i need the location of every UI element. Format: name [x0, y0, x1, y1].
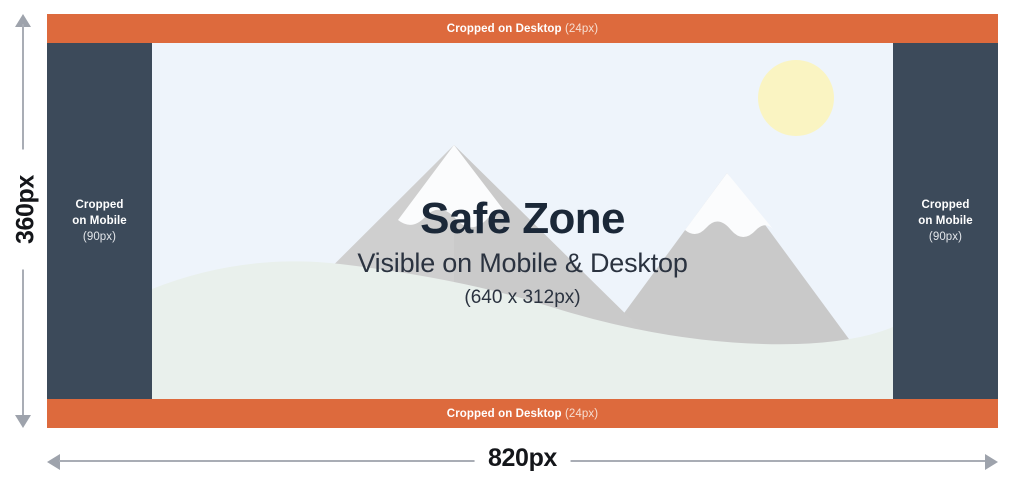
crop-band-bottom-label: Cropped on Desktop (24px): [447, 408, 598, 420]
arrow-left-icon: [47, 454, 60, 470]
cover-image-spec-diagram: 360px: [0, 0, 1024, 491]
mobile-crop-left-line1: Cropped: [72, 197, 127, 213]
crop-band-top-text: Cropped on Desktop: [447, 23, 562, 35]
mobile-crop-right-line1: Cropped: [918, 197, 973, 213]
mobile-crop-left-label: Cropped on Mobile (90px): [72, 197, 127, 245]
mobile-crop-panel-left: Cropped on Mobile (90px): [47, 43, 152, 399]
arrow-right-icon: [985, 454, 998, 470]
mobile-crop-left-size: (90px): [72, 229, 127, 245]
mobile-crop-right-label: Cropped on Mobile (90px): [918, 197, 973, 245]
crop-band-top-label: Cropped on Desktop (24px): [447, 23, 598, 35]
height-dimension-label: 360px: [7, 150, 46, 270]
width-dimension-arrow: 820px: [47, 443, 998, 479]
height-dimension-arrow: 360px: [12, 14, 34, 428]
mobile-crop-right-size: (90px): [918, 229, 973, 245]
cover-frame: Safe Zone Visible on Mobile & Desktop (6…: [47, 14, 998, 428]
crop-band-top-size: (24px): [565, 23, 598, 35]
crop-band-bottom-text: Cropped on Desktop: [447, 408, 562, 420]
mobile-crop-panel-right: Cropped on Mobile (90px): [893, 43, 998, 399]
width-dimension-label: 820px: [474, 444, 571, 473]
artwork-illustration: [152, 43, 893, 399]
crop-band-bottom-size: (24px): [565, 408, 598, 420]
crop-band-top: Cropped on Desktop (24px): [47, 14, 998, 43]
sun-icon: [758, 60, 834, 136]
crop-band-bottom: Cropped on Desktop (24px): [47, 399, 998, 428]
mobile-crop-right-line2: on Mobile: [918, 213, 973, 229]
arrow-down-icon: [15, 415, 31, 428]
mobile-crop-left-line2: on Mobile: [72, 213, 127, 229]
